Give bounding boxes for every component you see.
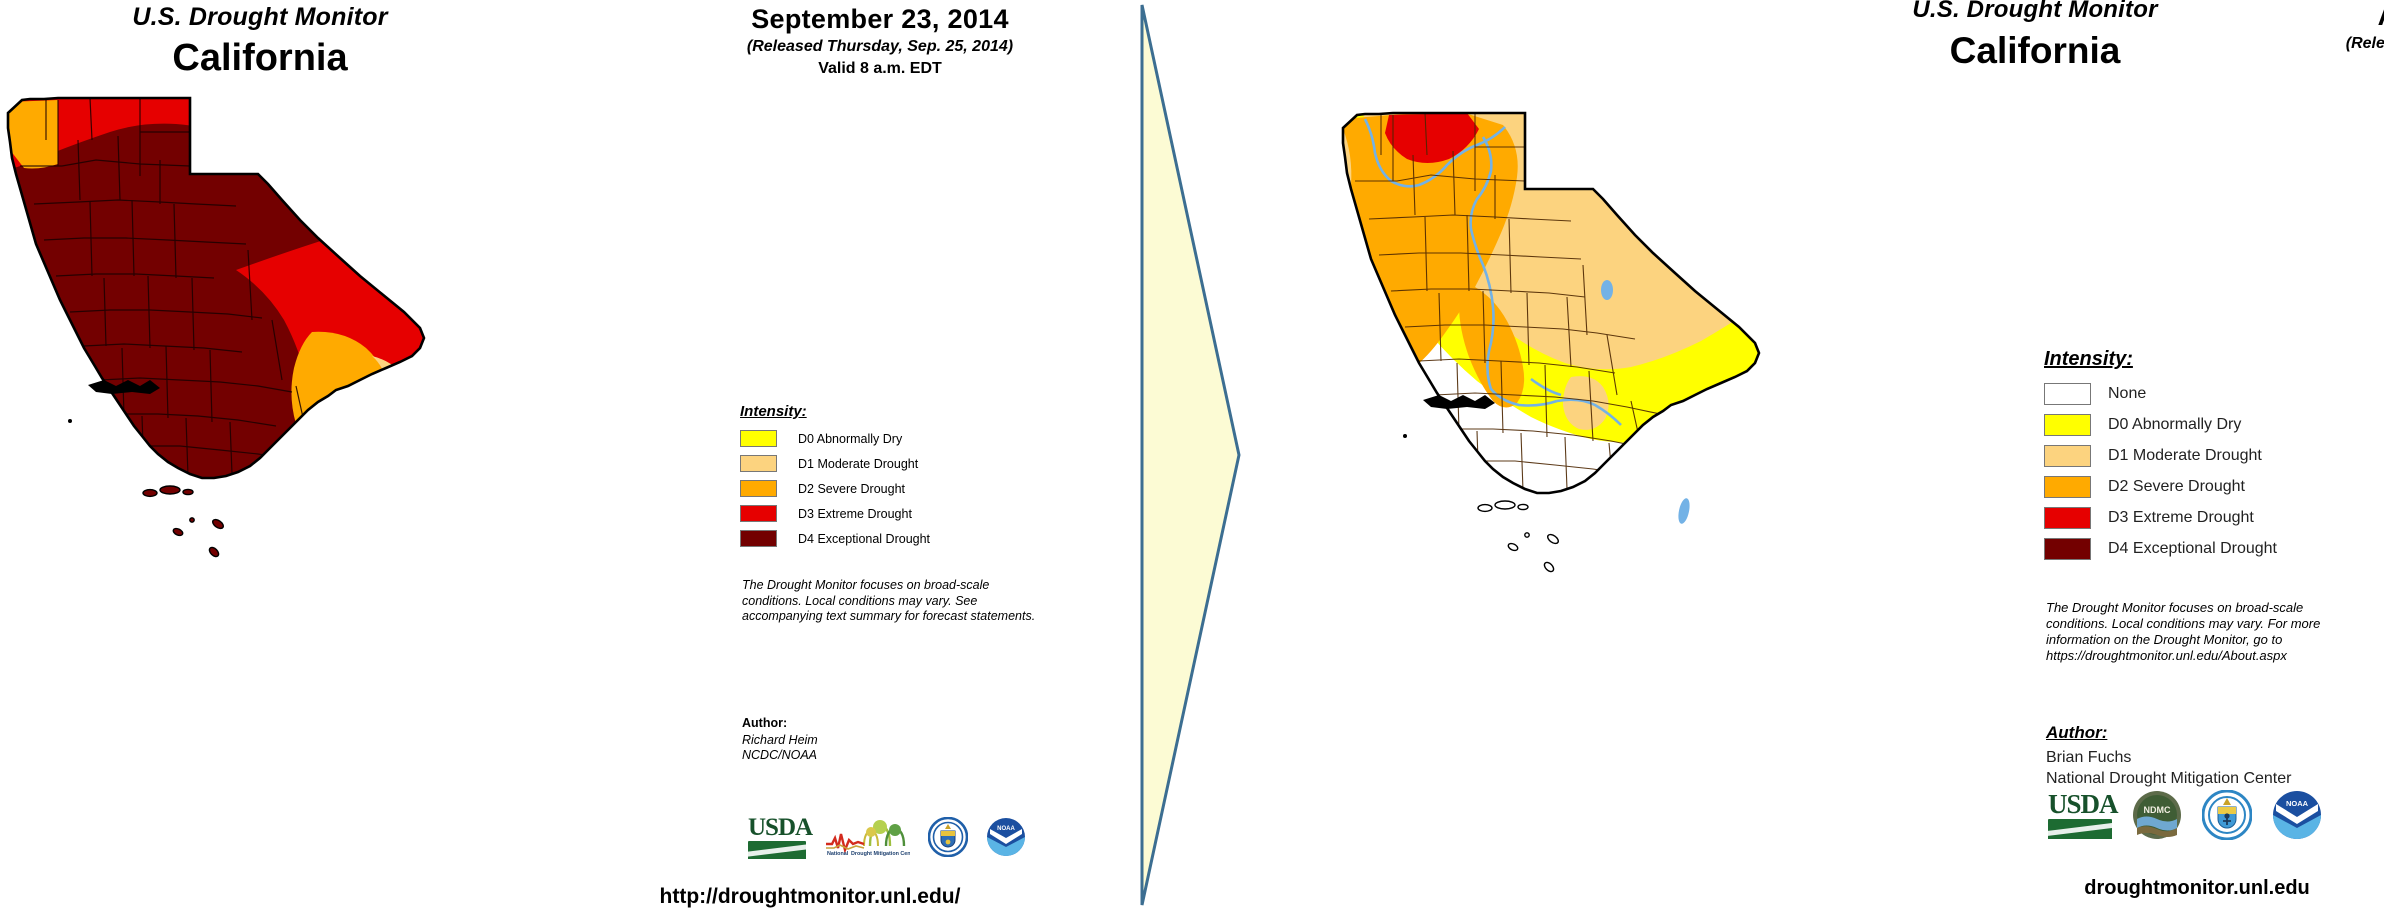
svg-text:NOAA: NOAA xyxy=(2286,799,2309,808)
left-legend-swatch-d2 xyxy=(740,480,777,497)
svg-text:NDMC: NDMC xyxy=(2144,805,2171,815)
right-date-released: (Released Thursday, Aug. 6, 2020) xyxy=(2275,33,2384,55)
usda-logo-field-graphic xyxy=(748,841,806,859)
right-legend-label-d3: D3 Extreme Drought xyxy=(2108,509,2254,527)
left-date-released: (Released Thursday, Sep. 25, 2014) xyxy=(620,36,1140,58)
usda-logo-text: USDA xyxy=(748,815,806,840)
left-author-name: Richard Heim xyxy=(742,733,818,748)
left-legend-label-d0: D0 Abnormally Dry xyxy=(798,432,902,446)
left-organization-title: U.S. Drought Monitor xyxy=(0,2,520,32)
drought-map-panel-2014: U.S. Drought Monitor California Septembe… xyxy=(0,0,1139,910)
right-legend-swatch-d3 xyxy=(2044,507,2091,529)
right-map-salton-sea xyxy=(1676,497,1691,525)
right-legend-swatch-d4 xyxy=(2044,538,2091,560)
left-legend-swatch-d1 xyxy=(740,455,777,472)
right-legend-swatch-none xyxy=(2044,383,2091,405)
right-date-block: August 4, 2020 (Released Thursday, Aug. … xyxy=(2275,0,2384,77)
svg-text:Drought Mitigation Center: Drought Mitigation Center xyxy=(851,851,910,856)
right-author-organization: National Drought Mitigation Center xyxy=(2046,768,2291,789)
right-legend: Intensity: None D0 Abnormally Dry D1 Mod… xyxy=(2044,348,2277,568)
transition-arrow xyxy=(1139,0,1251,910)
right-title-block: U.S. Drought Monitor California xyxy=(1775,0,2295,74)
right-legend-swatch-d2 xyxy=(2044,476,2091,498)
left-legend-item-d3: D3 Extreme Drought xyxy=(740,504,930,523)
left-author-organization: NCDC/NOAA xyxy=(742,748,818,763)
right-legend-label-d0: D0 Abnormally Dry xyxy=(2108,416,2241,434)
california-drought-map-2014 xyxy=(0,80,440,600)
transition-arrow-shape xyxy=(1142,5,1239,905)
left-legend-swatch-d0 xyxy=(740,430,777,447)
left-legend-item-d0: D0 Abnormally Dry xyxy=(740,429,930,448)
right-legend-label-none: None xyxy=(2108,385,2146,403)
left-disclaimer-text: The Drought Monitor focuses on broad-sca… xyxy=(742,578,1042,625)
ndmc-logo-2020: NDMC xyxy=(2132,790,2182,840)
left-title-block: U.S. Drought Monitor California xyxy=(0,2,520,81)
left-legend-item-d4: D4 Exceptional Drought xyxy=(740,529,930,548)
usda-logo-field-graphic-2020 xyxy=(2048,819,2112,839)
left-date-valid: Valid 8 a.m. EDT xyxy=(620,58,1140,80)
left-map-channel-islands xyxy=(143,486,225,558)
left-author-block: Author: Richard Heim NCDC/NOAA xyxy=(742,716,818,763)
right-map-farallon-islands xyxy=(1403,434,1407,438)
right-map-lake-tahoe xyxy=(1601,280,1613,300)
ndmc-logo-2014: National Drought Mitigation Center xyxy=(824,818,910,856)
left-legend: Intensity: D0 Abnormally Dry D1 Moderate… xyxy=(740,403,930,554)
right-author-name: Brian Fuchs xyxy=(2046,747,2291,768)
left-legend-item-d1: D1 Moderate Drought xyxy=(740,454,930,473)
usda-seal-logo xyxy=(928,817,968,857)
usda-logo-text-2020: USDA xyxy=(2048,791,2112,818)
right-state-title: California xyxy=(1775,28,2295,74)
california-drought-map-2020 xyxy=(1335,95,1775,600)
right-map-san-francisco-bay-delta xyxy=(1423,395,1495,409)
right-date-valid: Valid 8 a.m. EDT xyxy=(2275,55,2384,77)
left-legend-swatch-d4 xyxy=(740,530,777,547)
right-date-main: August 4, 2020 xyxy=(2275,0,2384,33)
left-legend-label-d2: D2 Severe Drought xyxy=(798,482,905,496)
right-legend-swatch-d0 xyxy=(2044,414,2091,436)
right-legend-item-d1: D1 Moderate Drought xyxy=(2044,444,2277,468)
right-author-block: Author: Brian Fuchs National Drought Mit… xyxy=(2046,722,2291,789)
left-legend-item-d2: D2 Severe Drought xyxy=(740,479,930,498)
right-legend-item-d3: D3 Extreme Drought xyxy=(2044,506,2277,530)
noaa-logo: NOAA xyxy=(986,817,1026,857)
left-legend-swatch-d3 xyxy=(740,505,777,522)
right-map-channel-islands xyxy=(1478,501,1560,573)
left-logo-row: USDA National Drought Mitigation Center xyxy=(748,815,1026,859)
right-author-heading: Author: xyxy=(2046,722,2291,743)
right-legend-heading: Intensity: xyxy=(2044,348,2133,371)
svg-text:National: National xyxy=(827,851,849,856)
svg-text:NOAA: NOAA xyxy=(997,826,1015,832)
usda-seal-logo-2020 xyxy=(2202,790,2252,840)
right-legend-label-d2: D2 Severe Drought xyxy=(2108,478,2245,496)
left-date-main: September 23, 2014 xyxy=(620,3,1140,36)
right-legend-swatch-d1 xyxy=(2044,445,2091,467)
left-date-block: September 23, 2014 (Released Thursday, S… xyxy=(620,3,1140,80)
right-legend-item-d4: D4 Exceptional Drought xyxy=(2044,537,2277,561)
right-url-text[interactable]: droughtmonitor.unl.edu xyxy=(2010,877,2384,900)
left-state-title: California xyxy=(0,35,520,81)
right-legend-item-d2: D2 Severe Drought xyxy=(2044,475,2277,499)
left-map-san-francisco-bay-delta xyxy=(88,380,160,394)
right-legend-label-d4: D4 Exceptional Drought xyxy=(2108,540,2277,558)
right-disclaimer-text: The Drought Monitor focuses on broad-sca… xyxy=(2046,600,2366,664)
right-legend-item-none: None xyxy=(2044,382,2277,406)
left-legend-label-d1: D1 Moderate Drought xyxy=(798,457,918,471)
right-organization-title: U.S. Drought Monitor xyxy=(1775,0,2295,25)
right-legend-label-d1: D1 Moderate Drought xyxy=(2108,447,2262,465)
right-map-fill-layer xyxy=(1335,95,1775,600)
left-legend-label-d3: D3 Extreme Drought xyxy=(798,507,912,521)
right-legend-item-d0: D0 Abnormally Dry xyxy=(2044,413,2277,437)
usda-logo: USDA xyxy=(748,815,806,859)
left-url-text[interactable]: http://droughtmonitor.unl.edu/ xyxy=(600,885,1020,909)
right-logo-row: USDA NDMC NOAA xyxy=(2048,790,2322,840)
left-map-farallon-islands xyxy=(68,419,72,423)
left-legend-heading: Intensity: xyxy=(740,403,807,420)
usda-logo-2020: USDA xyxy=(2048,791,2112,839)
left-legend-label-d4: D4 Exceptional Drought xyxy=(798,532,930,546)
noaa-logo-2020: NOAA xyxy=(2272,790,2322,840)
left-author-heading: Author: xyxy=(742,716,818,731)
